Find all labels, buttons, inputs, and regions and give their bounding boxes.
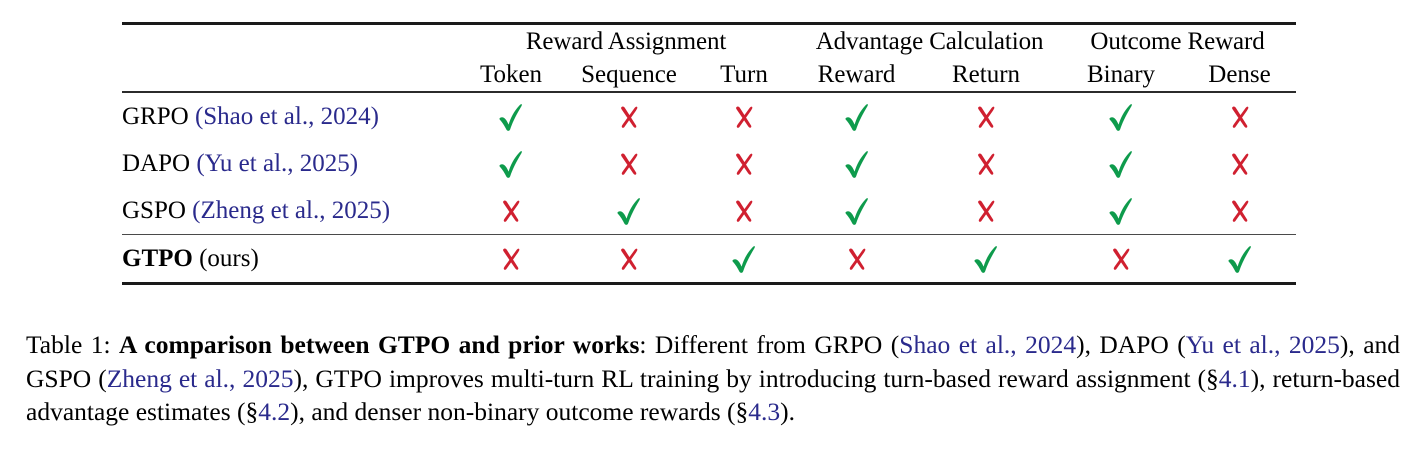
- row-label-grpo: GRPO (Shao et al., 2024): [122, 92, 452, 140]
- cell-gtpo-token: [452, 235, 570, 284]
- cell-gspo-turn: [688, 187, 800, 235]
- row-label-dapo: DAPO (Yu et al., 2025): [122, 140, 452, 187]
- column-header-binary: Binary: [1059, 59, 1183, 92]
- caption-text-2: ), DAPO (: [1076, 330, 1186, 359]
- check-mark-icon: [844, 102, 870, 132]
- check-mark-icon: [731, 244, 757, 274]
- caption-citation-yu[interactable]: Yu et al., 2025: [1186, 330, 1340, 359]
- cell-gspo-sequence: [570, 187, 688, 235]
- cross-mark-icon: [617, 150, 641, 178]
- caption-section-ref-41[interactable]: 4.1: [1219, 364, 1251, 393]
- caption-citation-zheng[interactable]: Zheng et al., 2025: [107, 364, 294, 393]
- cell-gspo-reward: [800, 187, 913, 235]
- subheader-empty-corner: [122, 59, 452, 92]
- check-mark-icon: [1108, 102, 1134, 132]
- method-citation[interactable]: (Zheng et al., 2025): [192, 197, 390, 224]
- caption-text-1: : Different from GRPO (: [639, 330, 899, 359]
- method-name: GSPO: [122, 197, 186, 224]
- check-mark-icon: [498, 102, 524, 132]
- cell-gtpo-binary: [1059, 235, 1183, 284]
- caption-title: A comparison between GTPO and prior work…: [119, 330, 639, 359]
- comparison-table-container: Reward Assignment Advantage Calculation …: [122, 22, 1296, 285]
- cross-mark-icon: [845, 245, 869, 273]
- table-row: GRPO (Shao et al., 2024): [122, 92, 1296, 140]
- cross-mark-icon: [617, 103, 641, 131]
- method-citation[interactable]: (Shao et al., 2024): [195, 103, 379, 130]
- method-citation[interactable]: (Yu et al., 2025): [196, 150, 358, 177]
- cell-grpo-token: [452, 92, 570, 140]
- cross-mark-icon: [1228, 197, 1252, 225]
- cross-mark-icon: [732, 103, 756, 131]
- check-mark-icon: [844, 196, 870, 226]
- cell-dapo-return: [913, 140, 1059, 187]
- cross-mark-icon: [732, 150, 756, 178]
- method-name: GRPO: [122, 103, 189, 130]
- table-row: DAPO (Yu et al., 2025): [122, 140, 1296, 187]
- cell-grpo-reward: [800, 92, 913, 140]
- check-mark-icon: [1108, 149, 1134, 179]
- table-header: Reward Assignment Advantage Calculation …: [122, 24, 1296, 93]
- cross-mark-icon: [974, 150, 998, 178]
- table-figure-page: Reward Assignment Advantage Calculation …: [0, 0, 1419, 469]
- cell-grpo-sequence: [570, 92, 688, 140]
- cell-gspo-return: [913, 187, 1059, 235]
- check-mark-icon: [973, 244, 999, 274]
- header-empty-corner: [122, 24, 452, 60]
- caption-text-6: ), and denser non-binary outcome rewards…: [290, 397, 748, 426]
- check-mark-icon: [616, 196, 642, 226]
- cross-mark-icon: [974, 197, 998, 225]
- check-mark-icon: [1227, 244, 1253, 274]
- table-group-header-row: Reward Assignment Advantage Calculation …: [122, 24, 1296, 60]
- cell-grpo-binary: [1059, 92, 1183, 140]
- cell-dapo-turn: [688, 140, 800, 187]
- column-header-dense: Dense: [1183, 59, 1296, 92]
- cell-gtpo-return: [913, 235, 1059, 284]
- cell-dapo-dense: [1183, 140, 1296, 187]
- cell-gspo-binary: [1059, 187, 1183, 235]
- cross-mark-icon: [974, 103, 998, 131]
- table-subheader-row: Token Sequence Turn Reward Return Binary…: [122, 59, 1296, 92]
- method-citation: (ours): [199, 245, 259, 272]
- column-header-token: Token: [452, 59, 570, 92]
- cross-mark-icon: [1228, 150, 1252, 178]
- caption-label: Table 1:: [26, 330, 111, 359]
- cell-grpo-return: [913, 92, 1059, 140]
- table-row: GTPO (ours): [122, 235, 1296, 284]
- caption-citation-shao[interactable]: Shao et al., 2024: [899, 330, 1076, 359]
- cell-dapo-token: [452, 140, 570, 187]
- column-header-turn: Turn: [688, 59, 800, 92]
- row-label-gspo: GSPO (Zheng et al., 2025): [122, 187, 452, 235]
- check-mark-icon: [498, 149, 524, 179]
- column-header-sequence: Sequence: [570, 59, 688, 92]
- cell-dapo-sequence: [570, 140, 688, 187]
- cell-dapo-binary: [1059, 140, 1183, 187]
- check-mark-icon: [844, 149, 870, 179]
- cell-grpo-turn: [688, 92, 800, 140]
- table-body: GRPO (Shao et al., 2024)DAPO (Yu et al.,…: [122, 92, 1296, 284]
- cross-mark-icon: [617, 245, 641, 273]
- cross-mark-icon: [499, 197, 523, 225]
- cross-mark-icon: [732, 197, 756, 225]
- column-group-outcome-reward: Outcome Reward: [1059, 24, 1296, 60]
- column-group-advantage-calculation: Advantage Calculation: [800, 24, 1059, 60]
- cell-gtpo-turn: [688, 235, 800, 284]
- comparison-table: Reward Assignment Advantage Calculation …: [122, 22, 1296, 285]
- method-name: GTPO: [122, 245, 193, 272]
- caption-section-ref-42[interactable]: 4.2: [258, 397, 290, 426]
- cell-gspo-token: [452, 187, 570, 235]
- cell-grpo-dense: [1183, 92, 1296, 140]
- method-name: DAPO: [122, 150, 190, 177]
- column-header-reward: Reward: [800, 59, 913, 92]
- cross-mark-icon: [1228, 103, 1252, 131]
- cell-gspo-dense: [1183, 187, 1296, 235]
- row-label-gtpo: GTPO (ours): [122, 235, 452, 284]
- cell-gtpo-dense: [1183, 235, 1296, 284]
- cell-gtpo-reward: [800, 235, 913, 284]
- check-mark-icon: [1108, 196, 1134, 226]
- table-row: GSPO (Zheng et al., 2025): [122, 187, 1296, 235]
- caption-section-ref-43[interactable]: 4.3: [748, 397, 780, 426]
- column-header-return: Return: [913, 59, 1059, 92]
- column-group-reward-assignment: Reward Assignment: [452, 24, 800, 60]
- cross-mark-icon: [1109, 245, 1133, 273]
- cell-dapo-reward: [800, 140, 913, 187]
- caption-text-4: ), GTPO improves multi-turn RL training …: [293, 364, 1218, 393]
- caption-text-7: ).: [780, 397, 795, 426]
- table-caption: Table 1: A comparison between GTPO and p…: [26, 328, 1400, 429]
- cell-gtpo-sequence: [570, 235, 688, 284]
- cross-mark-icon: [499, 245, 523, 273]
